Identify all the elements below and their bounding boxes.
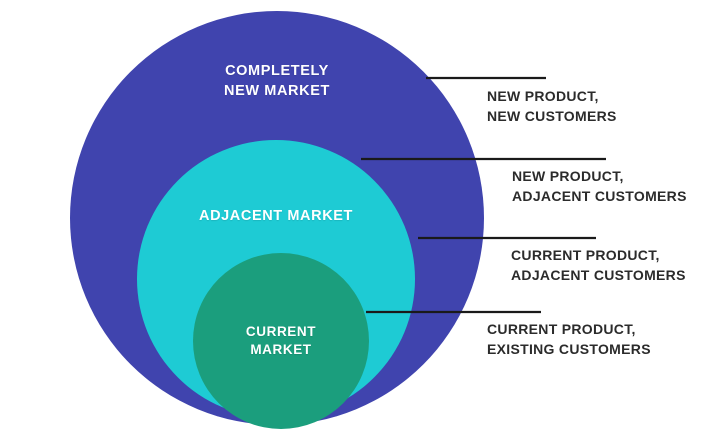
- callout-new-product-adjacent-customers: NEW PRODUCT, ADJACENT CUSTOMERS: [512, 166, 717, 207]
- concentric-circles-graphic: [0, 0, 720, 447]
- callout-new-product-new-customers: NEW PRODUCT, NEW CUSTOMERS: [487, 86, 712, 127]
- callout-current-product-adjacent-customers: CURRENT PRODUCT, ADJACENT CUSTOMERS: [511, 245, 716, 286]
- inner-circle-current-market[interactable]: [193, 253, 369, 429]
- callout-current-product-existing-customers: CURRENT PRODUCT, EXISTING CUSTOMERS: [487, 319, 712, 360]
- diagram-canvas: COMPLETELY NEW MARKET ADJACENT MARKET CU…: [0, 0, 720, 447]
